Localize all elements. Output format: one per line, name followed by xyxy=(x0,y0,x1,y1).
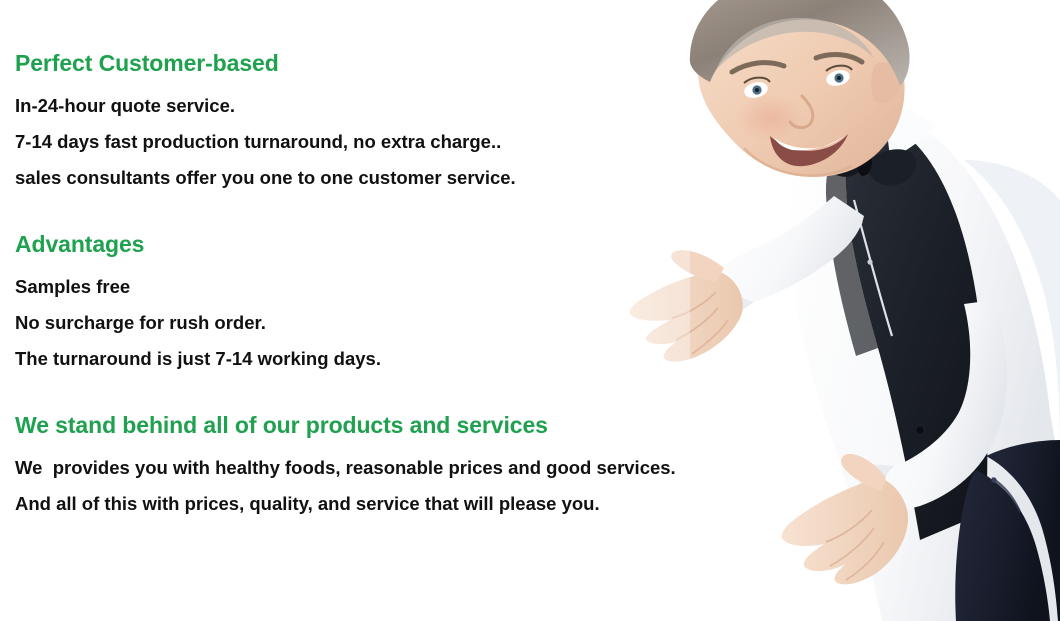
section-line: We provides you with healthy foods, reas… xyxy=(15,450,676,486)
section-heading: We stand behind all of our products and … xyxy=(15,410,676,440)
section-line: In-24-hour quote service. xyxy=(15,88,516,124)
section-we-stand-behind: We stand behind all of our products and … xyxy=(15,410,676,522)
section-heading: Perfect Customer-based xyxy=(15,48,516,78)
section-line: No surcharge for rush order. xyxy=(15,305,381,341)
section-heading: Advantages xyxy=(15,229,381,259)
section-advantages: Advantages Samples free No surcharge for… xyxy=(15,229,381,377)
section-line: The turnaround is just 7-14 working days… xyxy=(15,341,381,377)
trousers xyxy=(986,440,1060,621)
section-line: 7-14 days fast production turnaround, no… xyxy=(15,124,516,160)
section-line: sales consultants offer you one to one c… xyxy=(15,160,516,196)
smile xyxy=(770,134,848,166)
section-line: Samples free xyxy=(15,269,381,305)
section-line: And all of this with prices, quality, an… xyxy=(15,486,676,522)
shirt-torso xyxy=(789,111,1060,621)
eyes xyxy=(743,66,852,101)
bow-tie xyxy=(814,134,916,186)
copy-column: Perfect Customer-based In-24-hour quote … xyxy=(15,0,755,621)
vest xyxy=(846,120,987,540)
lower-arm-presenting xyxy=(782,300,1007,584)
section-perfect-customer-based: Perfect Customer-based In-24-hour quote … xyxy=(15,48,516,196)
promo-banner: Perfect Customer-based In-24-hour quote … xyxy=(0,0,1060,621)
